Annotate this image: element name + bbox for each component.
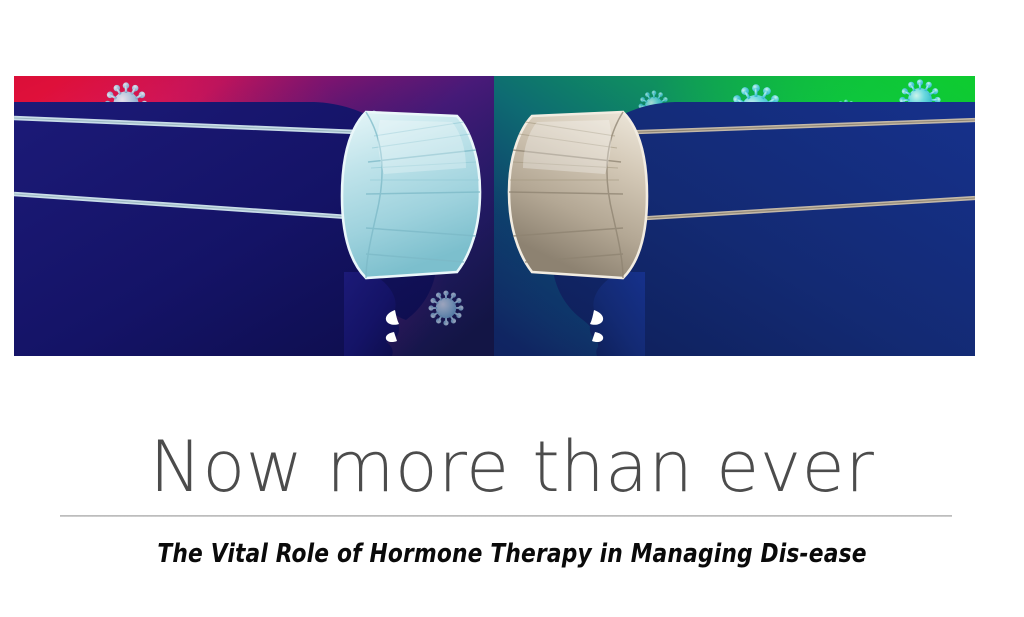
- page-title: Now more than ever: [0, 424, 1024, 510]
- divider-rule: [60, 515, 952, 517]
- banner-illustration: [14, 76, 975, 356]
- banner-left-panel: [14, 76, 495, 356]
- page-subtitle: The Vital Role of Hormone Therapy in Man…: [36, 537, 988, 571]
- surgical-mask-left: [342, 112, 480, 278]
- surgical-mask-right: [509, 112, 647, 278]
- banner-image: [14, 76, 975, 356]
- slide-root: Now more than ever The Vital Role of Hor…: [0, 0, 1024, 617]
- divider: [60, 515, 952, 519]
- banner-right-panel: [494, 76, 975, 356]
